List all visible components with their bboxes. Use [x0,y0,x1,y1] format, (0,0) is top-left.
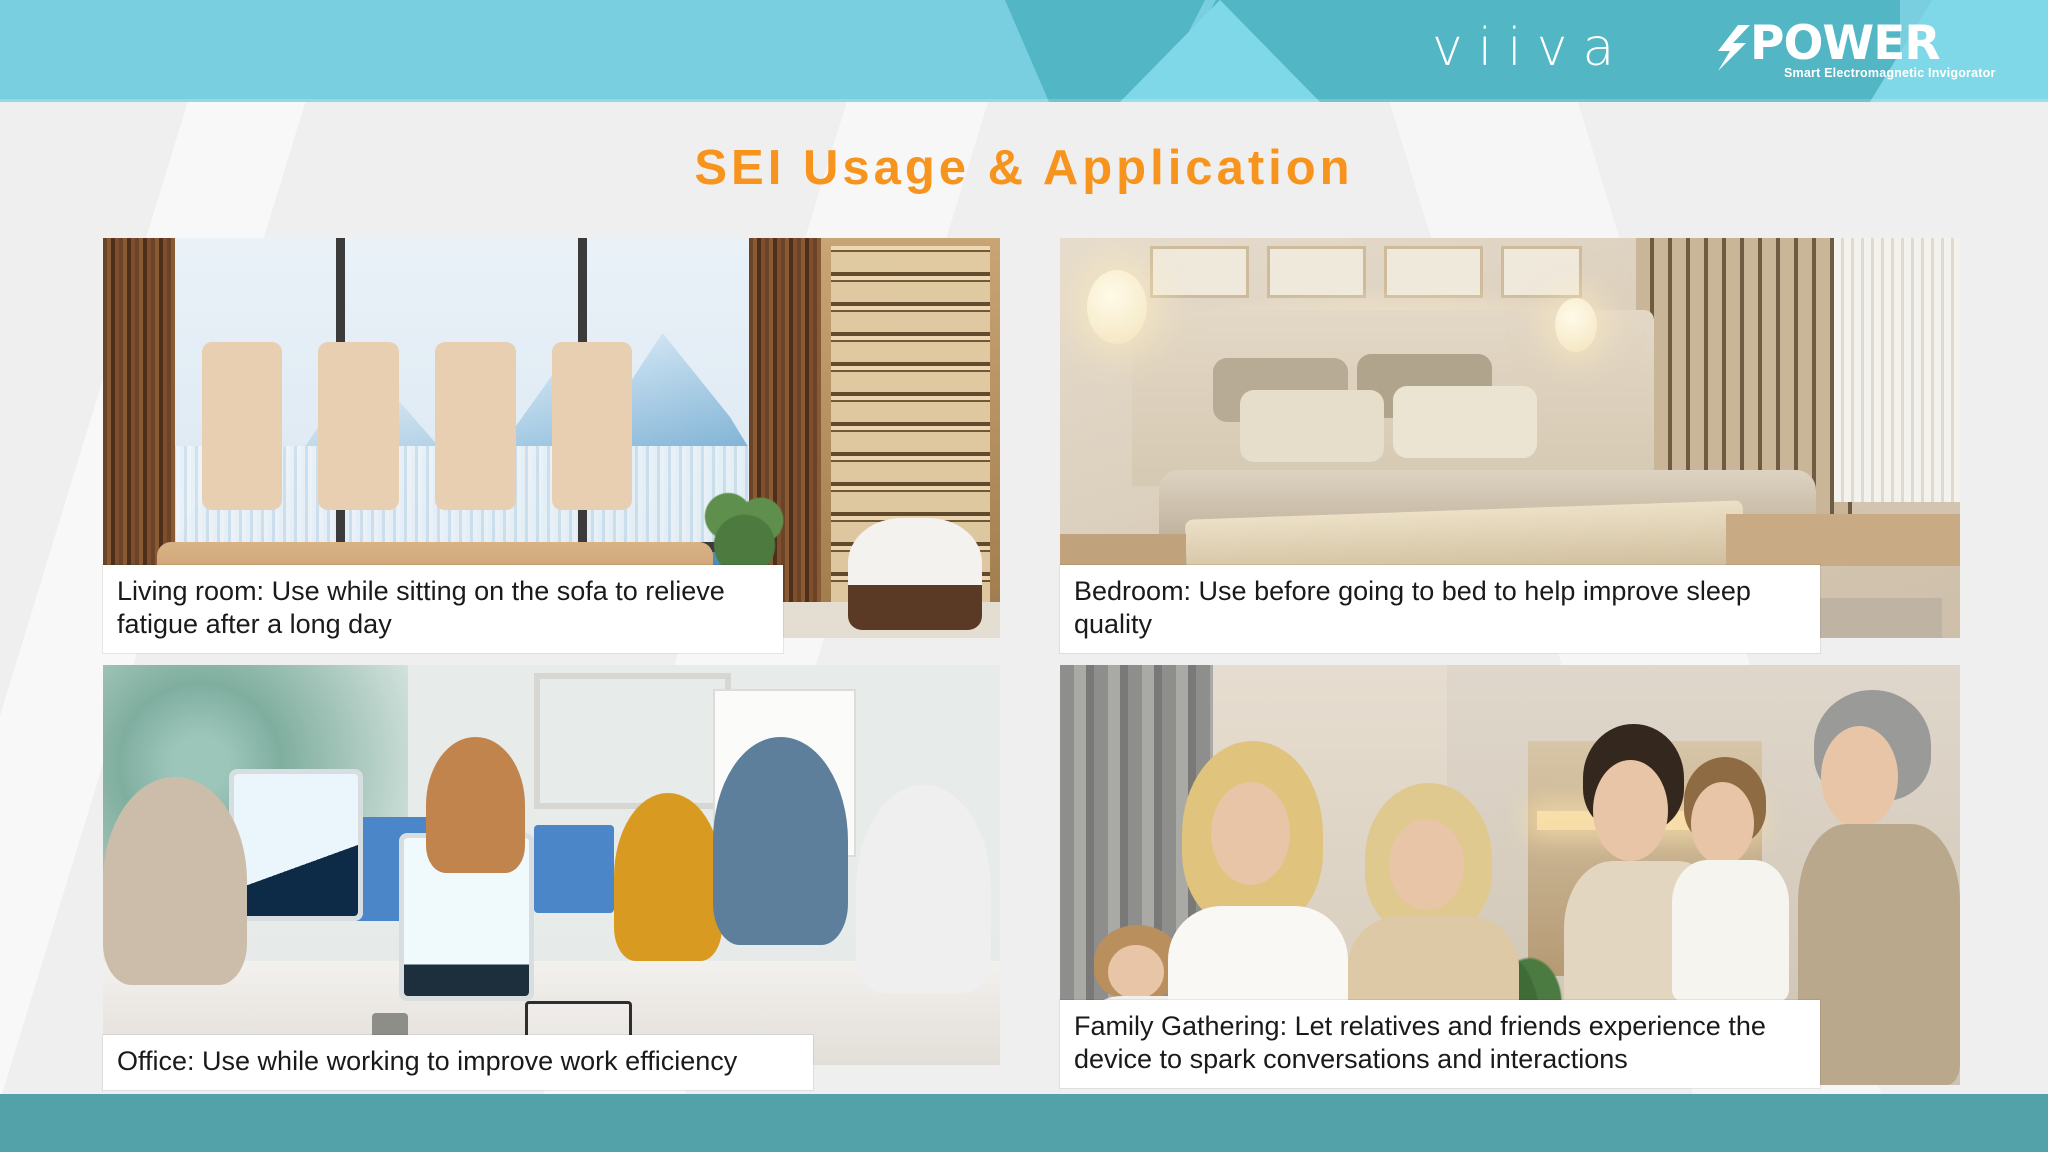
monitor-screen [234,774,359,916]
desk-divider [534,825,615,913]
caption-office: Office: Use while working to improve wor… [103,1035,813,1090]
cushion [202,342,283,510]
cushion [318,342,399,510]
face [1593,760,1668,861]
pendant-lamp-right [1555,298,1597,352]
caption-living-room: Living room: Use while sitting on the so… [103,565,783,653]
lounge-chair [848,518,983,630]
cushion [435,342,516,510]
caption-family-gathering: Family Gathering: Let relatives and frie… [1060,1000,1820,1088]
office-photo [103,665,1000,1065]
header-band: viiva POWER Smart Electromagnetic Invigo… [0,0,2048,102]
pendant-lamp-left [1087,270,1147,344]
cushion [552,342,633,510]
power-logo-tagline: Smart Electromagnetic Invigorator [1784,66,1996,80]
office-person [713,737,848,945]
page-title: SEI Usage & Application [0,140,2048,196]
slide-root: viiva POWER Smart Electromagnetic Invigo… [0,0,2048,1152]
power-logo: POWER Smart Electromagnetic Invigorator [1712,22,1982,84]
office-shelving [534,673,731,809]
family-elder-man [1798,690,1960,1085]
office-person [614,793,722,961]
sheer-curtains [1834,238,1960,502]
shirt [1672,860,1789,1001]
panel-office [103,665,1000,1065]
viiva-logo: viiva [1432,22,1629,74]
face [1821,726,1899,829]
face [1211,782,1290,885]
console-table [1726,514,1960,566]
imac-monitor [229,769,364,921]
caption-bedroom: Bedroom: Use before going to bed to help… [1060,565,1820,653]
family-toddler [1672,757,1789,1001]
pillow [1240,390,1384,462]
face [1691,782,1754,865]
blazer [1798,824,1960,1085]
potted-plant [704,478,785,574]
office-person [103,777,247,985]
footer-band [0,1094,2048,1152]
header-bottom-line [0,99,2048,102]
office-person [426,737,525,873]
office-person [856,785,991,993]
face [1389,819,1464,910]
pillow [1393,386,1537,458]
power-logo-text: POWER [1750,20,1940,67]
face [1108,945,1164,999]
